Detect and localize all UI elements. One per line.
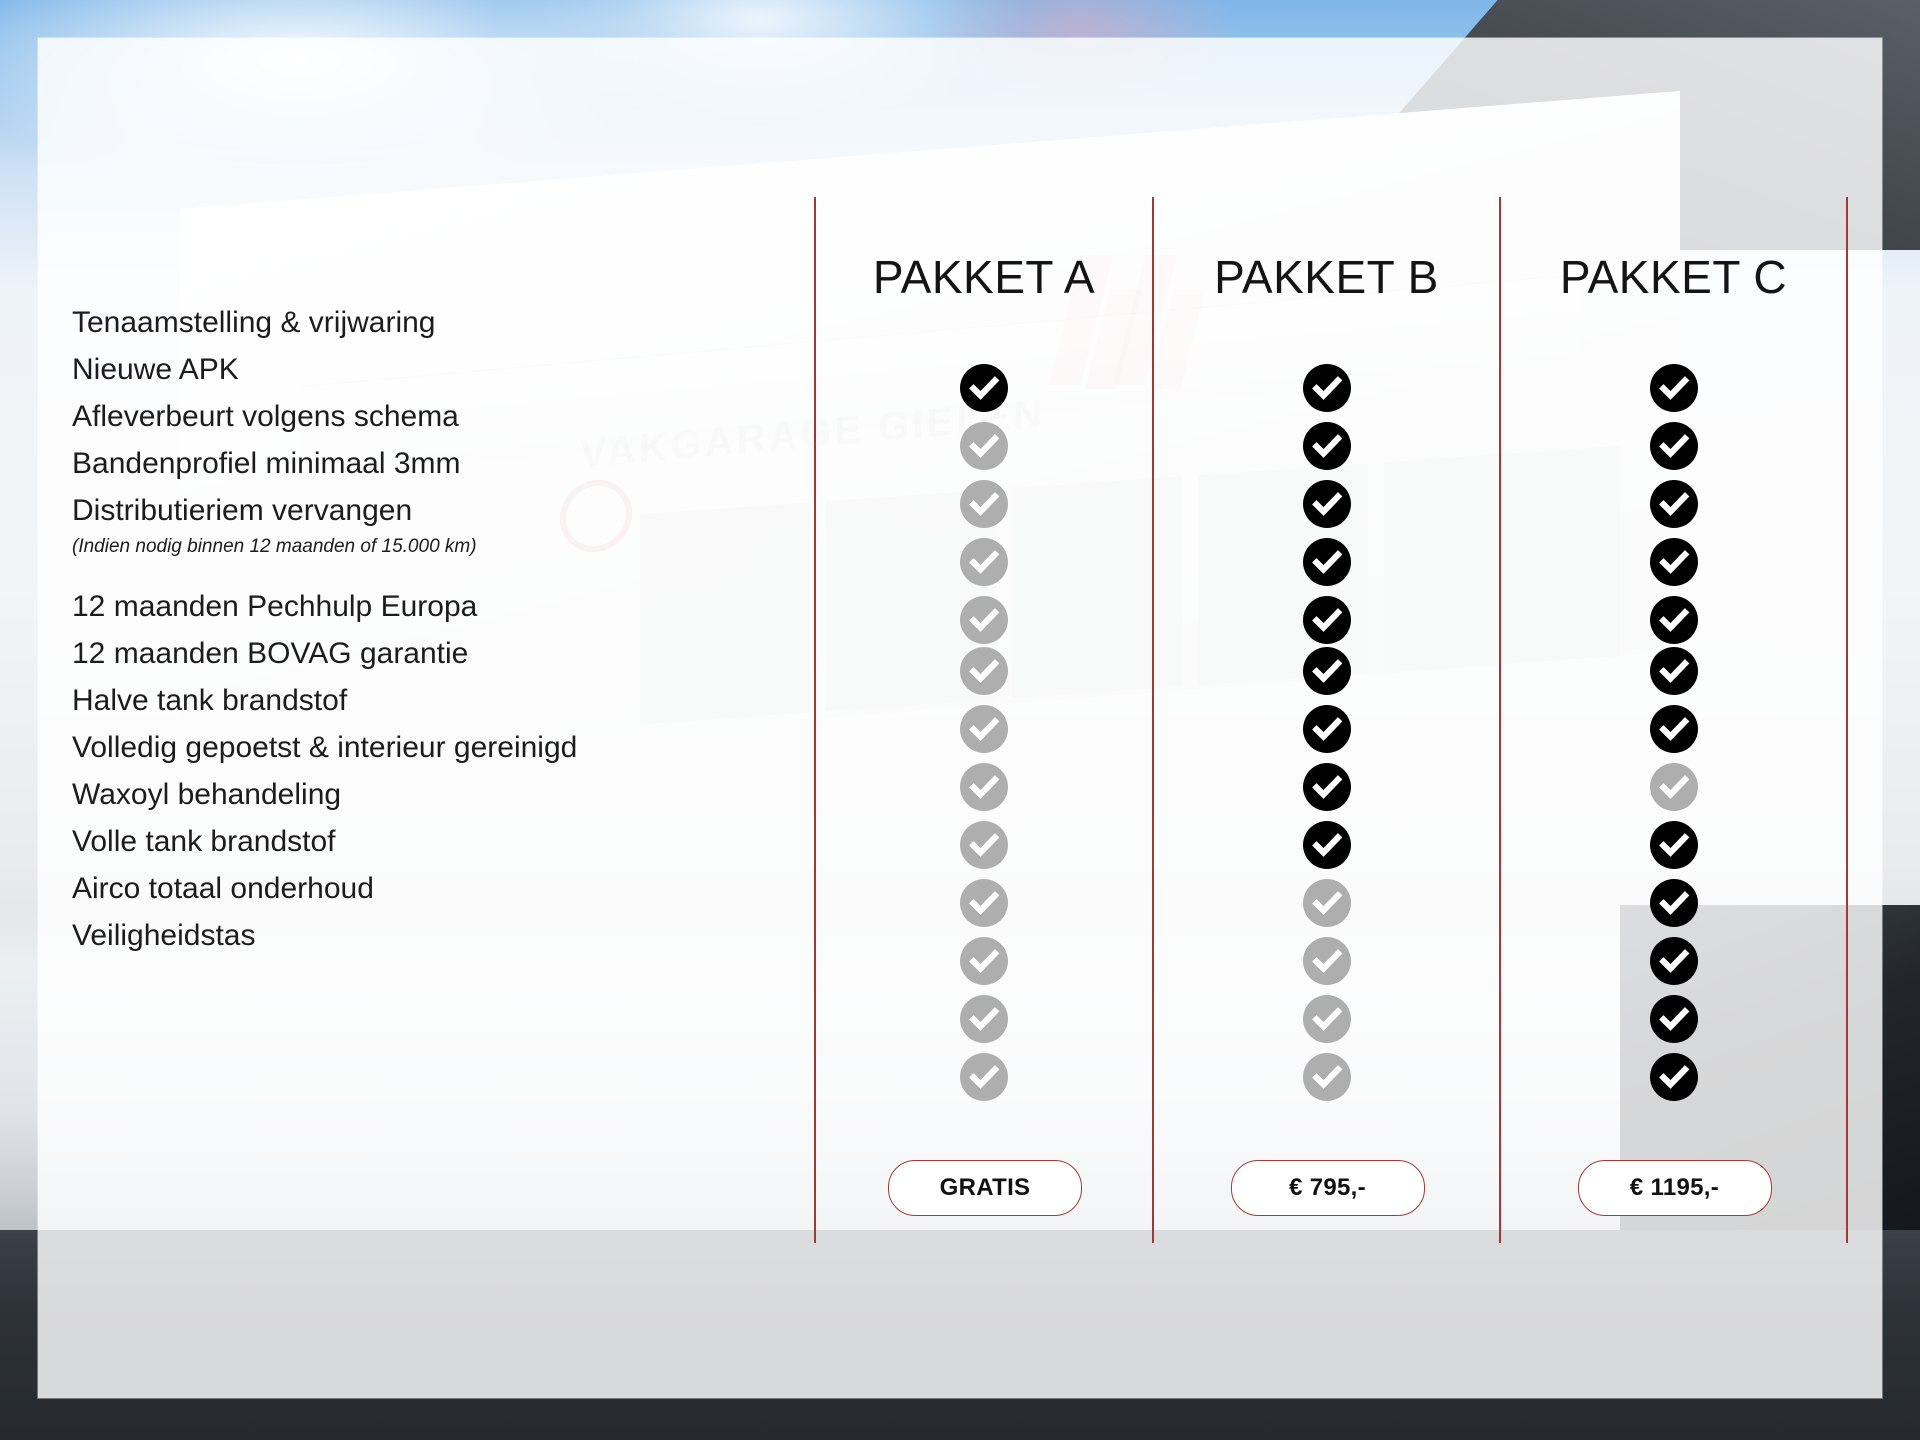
- check-circle-icon-a-10: [960, 879, 1008, 927]
- feature-label: Waxoyl behandeling: [72, 778, 341, 812]
- check-circle-icon-a-9: [960, 821, 1008, 869]
- check-circle-icon-b-10: [1303, 879, 1351, 927]
- check-circle-icon-a-13: [960, 1053, 1008, 1101]
- check-circle-icon-b-1: [1303, 364, 1351, 412]
- check-circle-icon-c-2: [1650, 422, 1698, 470]
- screenshot-stage: VAKGARAGE GIELEN PAKKET APAKKET BPAKKET …: [0, 0, 1920, 1440]
- check-circle-icon-c-4: [1650, 538, 1698, 586]
- feature-label: 12 maanden Pechhulp Europa: [72, 590, 477, 624]
- check-circle-icon-b-7: [1303, 705, 1351, 753]
- feature-label: Nieuwe APK: [72, 353, 239, 387]
- feature-label: Tenaamstelling & vrijwaring: [72, 306, 436, 340]
- check-circle-icon-c-6: [1650, 647, 1698, 695]
- feature-label: Halve tank brandstof: [72, 684, 347, 718]
- feature-label: Veiligheidstas: [72, 919, 255, 953]
- column-header-c: PAKKET C: [1504, 250, 1844, 304]
- feature-label: Airco totaal onderhoud: [72, 872, 374, 906]
- column-header-a: PAKKET A: [814, 250, 1154, 304]
- feature-label: 12 maanden BOVAG garantie: [72, 637, 468, 671]
- package-comparison-card: PAKKET APAKKET BPAKKET CTenaamstelling &…: [38, 38, 1882, 1398]
- check-circle-icon-b-8: [1303, 763, 1351, 811]
- column-divider-3: [1846, 197, 1848, 1243]
- check-circle-icon-a-3: [960, 480, 1008, 528]
- check-circle-icon-a-12: [960, 995, 1008, 1043]
- check-circle-icon-a-6: [960, 647, 1008, 695]
- feature-label: Volledig gepoetst & interieur gereinigd: [72, 731, 577, 765]
- check-circle-icon-c-9: [1650, 821, 1698, 869]
- price-button-a[interactable]: GRATIS: [888, 1160, 1082, 1216]
- check-circle-icon-b-5: [1303, 596, 1351, 644]
- check-circle-icon-a-5: [960, 596, 1008, 644]
- check-circle-icon-c-5: [1650, 596, 1698, 644]
- check-circle-icon-b-6: [1303, 647, 1351, 695]
- check-circle-icon-b-13: [1303, 1053, 1351, 1101]
- feature-label: Distributieriem vervangen: [72, 494, 412, 528]
- feature-label: Bandenprofiel minimaal 3mm: [72, 447, 461, 481]
- check-circle-icon-b-3: [1303, 480, 1351, 528]
- check-circle-icon-c-3: [1650, 480, 1698, 528]
- check-circle-icon-b-4: [1303, 538, 1351, 586]
- check-circle-icon-b-2: [1303, 422, 1351, 470]
- price-button-b[interactable]: € 795,-: [1231, 1160, 1425, 1216]
- check-circle-icon-c-13: [1650, 1053, 1698, 1101]
- check-circle-icon-c-12: [1650, 995, 1698, 1043]
- feature-note: (Indien nodig binnen 12 maanden of 15.00…: [72, 536, 477, 558]
- check-circle-icon-a-2: [960, 422, 1008, 470]
- check-circle-icon-b-9: [1303, 821, 1351, 869]
- check-circle-icon-a-11: [960, 937, 1008, 985]
- check-circle-icon-b-12: [1303, 995, 1351, 1043]
- check-circle-icon-c-11: [1650, 937, 1698, 985]
- check-circle-icon-c-7: [1650, 705, 1698, 753]
- package-comparison-table: PAKKET APAKKET BPAKKET CTenaamstelling &…: [38, 38, 1882, 1398]
- check-circle-icon-a-8: [960, 763, 1008, 811]
- check-circle-icon-a-1: [960, 364, 1008, 412]
- feature-label: Volle tank brandstof: [72, 825, 336, 859]
- feature-label: Afleverbeurt volgens schema: [72, 400, 459, 434]
- column-header-b: PAKKET B: [1157, 250, 1497, 304]
- check-circle-icon-c-8: [1650, 763, 1698, 811]
- column-divider-1: [1152, 197, 1154, 1243]
- column-divider-2: [1499, 197, 1501, 1243]
- column-divider-0: [814, 197, 816, 1243]
- check-circle-icon-a-7: [960, 705, 1008, 753]
- price-button-c[interactable]: € 1195,-: [1578, 1160, 1772, 1216]
- check-circle-icon-c-1: [1650, 364, 1698, 412]
- check-circle-icon-b-11: [1303, 937, 1351, 985]
- check-circle-icon-a-4: [960, 538, 1008, 586]
- check-circle-icon-c-10: [1650, 879, 1698, 927]
